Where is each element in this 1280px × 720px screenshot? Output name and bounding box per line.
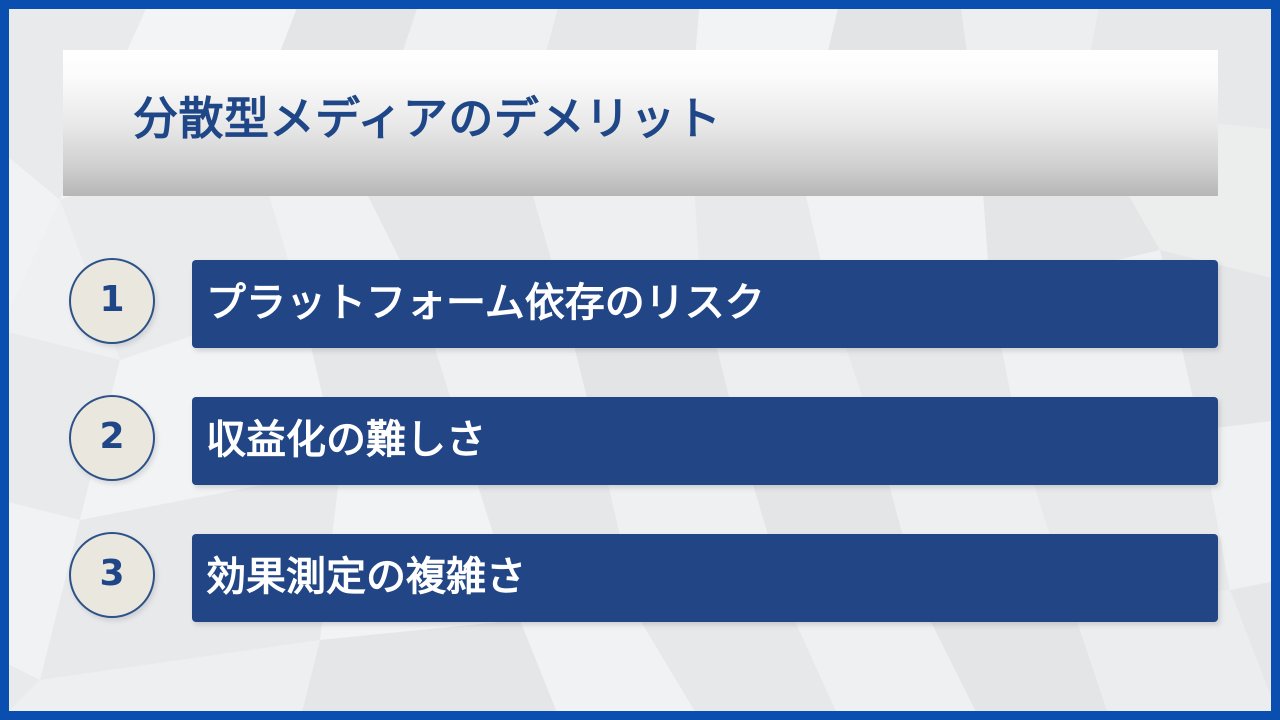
item-bar[interactable]: 効果測定の複雑さ xyxy=(192,534,1218,622)
frame-border-bottom xyxy=(0,711,1280,720)
item-number-badge: 2 xyxy=(69,395,155,481)
frame-border-right xyxy=(1271,0,1280,720)
list-item[interactable]: 1 プラットフォーム依存のリスク xyxy=(63,258,1218,348)
frame-border-top xyxy=(0,0,1280,9)
title-band: 分散型メディアのデメリット xyxy=(63,50,1218,196)
item-bar[interactable]: 収益化の難しさ xyxy=(192,397,1218,485)
list-item[interactable]: 2 収益化の難しさ xyxy=(63,395,1218,485)
item-number-label: 3 xyxy=(99,556,124,592)
item-text: 収益化の難しさ xyxy=(192,420,486,460)
item-text: 効果測定の複雑さ xyxy=(192,557,526,597)
item-number-label: 2 xyxy=(99,419,124,455)
item-number-label: 1 xyxy=(99,282,124,318)
item-bar[interactable]: プラットフォーム依存のリスク xyxy=(192,260,1218,348)
page-title: 分散型メディアのデメリット xyxy=(133,96,721,141)
frame-border-left xyxy=(0,0,9,720)
item-text: プラットフォーム依存のリスク xyxy=(192,283,765,323)
item-number-badge: 1 xyxy=(69,258,155,344)
item-number-badge: 3 xyxy=(69,532,155,618)
list-item[interactable]: 3 効果測定の複雑さ xyxy=(63,532,1218,622)
slide-canvas: 分散型メディアのデメリット 1 プラットフォーム依存のリスク 2 収益化の難しさ… xyxy=(0,0,1280,720)
